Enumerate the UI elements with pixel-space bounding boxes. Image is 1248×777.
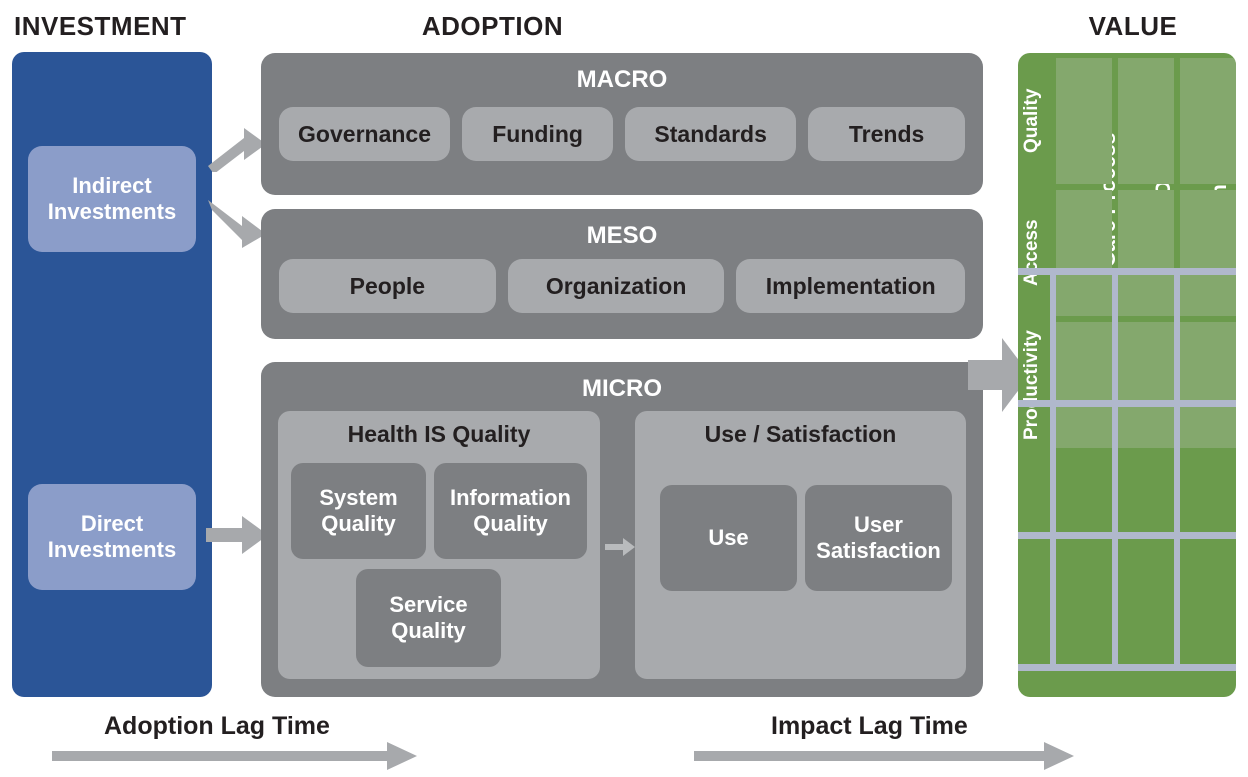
- health-is-quality-title: Health IS Quality: [278, 421, 600, 448]
- indirect-investments-box: IndirectInvestments: [28, 146, 196, 252]
- diagram-canvas: INVESTMENT ADOPTION VALUE IndirectInvest…: [0, 0, 1248, 777]
- value-gridline-vertical: [1174, 268, 1180, 671]
- value-gridline-vertical: [1050, 268, 1056, 671]
- information-quality-box[interactable]: InformationQuality: [434, 463, 587, 559]
- arrow-quality-to-use-icon: [605, 537, 635, 557]
- macro-chip-row: Governance Funding Standards Trends: [279, 107, 965, 161]
- macro-chip-standards[interactable]: Standards: [625, 107, 796, 161]
- macro-chip-funding[interactable]: Funding: [462, 107, 613, 161]
- value-cell-productivity-care-process[interactable]: [1056, 322, 1112, 448]
- investment-panel: IndirectInvestments DirectInvestments: [12, 52, 212, 697]
- value-row-label-productivity: Productivity: [1018, 322, 1046, 448]
- meso-chip-row: People Organization Implementation: [279, 259, 965, 313]
- value-cell-access-economic-return[interactable]: [1180, 190, 1236, 316]
- value-panel: Care Process Health Outcomes Economic Re…: [1018, 53, 1236, 697]
- indirect-investments-label: IndirectInvestments: [48, 173, 176, 225]
- value-row-label-access: Access: [1018, 190, 1046, 316]
- use-satisfaction-panel: Use / Satisfaction Use UserSatisfaction: [635, 411, 966, 679]
- service-quality-label: ServiceQuality: [389, 592, 467, 643]
- impact-lag-time-arrow-icon: [694, 742, 1074, 770]
- direct-investments-box: DirectInvestments: [28, 484, 196, 590]
- micro-panel: MICRO Health IS Quality SystemQuality In…: [261, 362, 983, 697]
- information-quality-label: InformationQuality: [450, 485, 571, 536]
- use-label: Use: [708, 525, 748, 551]
- value-cell-productivity-economic-return[interactable]: [1180, 322, 1236, 448]
- arrow-indirect-to-macro-icon: [206, 126, 268, 172]
- value-row-label-quality: Quality: [1018, 58, 1046, 184]
- adoption-lag-time-label: Adoption Lag Time: [104, 712, 330, 741]
- direct-investments-label: DirectInvestments: [48, 511, 176, 563]
- system-quality-box[interactable]: SystemQuality: [291, 463, 426, 559]
- macro-panel: MACRO Governance Funding Standards Trend…: [261, 53, 983, 195]
- meso-title: MESO: [261, 222, 983, 250]
- user-satisfaction-label: UserSatisfaction: [816, 512, 941, 563]
- adoption-lag-time-arrow-icon: [52, 742, 417, 770]
- value-cell-quality-health-outcomes[interactable]: [1118, 58, 1174, 184]
- service-quality-box[interactable]: ServiceQuality: [356, 569, 501, 667]
- heading-adoption: ADOPTION: [0, 11, 985, 42]
- value-cell-access-health-outcomes[interactable]: [1118, 190, 1174, 316]
- value-cell-quality-care-process[interactable]: [1056, 58, 1112, 184]
- value-row-quality: Quality: [1018, 58, 1236, 184]
- value-gridline-vertical: [1112, 268, 1118, 671]
- value-cell-productivity-health-outcomes[interactable]: [1118, 322, 1174, 448]
- health-is-quality-panel: Health IS Quality SystemQuality Informat…: [278, 411, 600, 679]
- meso-chip-organization[interactable]: Organization: [508, 259, 725, 313]
- system-quality-label: SystemQuality: [319, 485, 397, 536]
- macro-title: MACRO: [261, 66, 983, 94]
- meso-panel: MESO People Organization Implementation: [261, 209, 983, 339]
- meso-chip-implementation[interactable]: Implementation: [736, 259, 965, 313]
- macro-chip-trends[interactable]: Trends: [808, 107, 965, 161]
- arrow-direct-to-micro-icon: [206, 514, 268, 556]
- use-box[interactable]: Use: [660, 485, 797, 591]
- heading-value: VALUE: [1018, 11, 1248, 42]
- macro-chip-governance[interactable]: Governance: [279, 107, 450, 161]
- user-satisfaction-box[interactable]: UserSatisfaction: [805, 485, 952, 591]
- use-satisfaction-title: Use / Satisfaction: [635, 421, 966, 448]
- micro-title: MICRO: [261, 375, 983, 403]
- value-cell-access-care-process[interactable]: [1056, 190, 1112, 316]
- value-cell-quality-economic-return[interactable]: [1180, 58, 1236, 184]
- impact-lag-time-label: Impact Lag Time: [771, 712, 968, 741]
- arrow-indirect-to-meso-icon: [206, 196, 268, 248]
- meso-chip-people[interactable]: People: [279, 259, 496, 313]
